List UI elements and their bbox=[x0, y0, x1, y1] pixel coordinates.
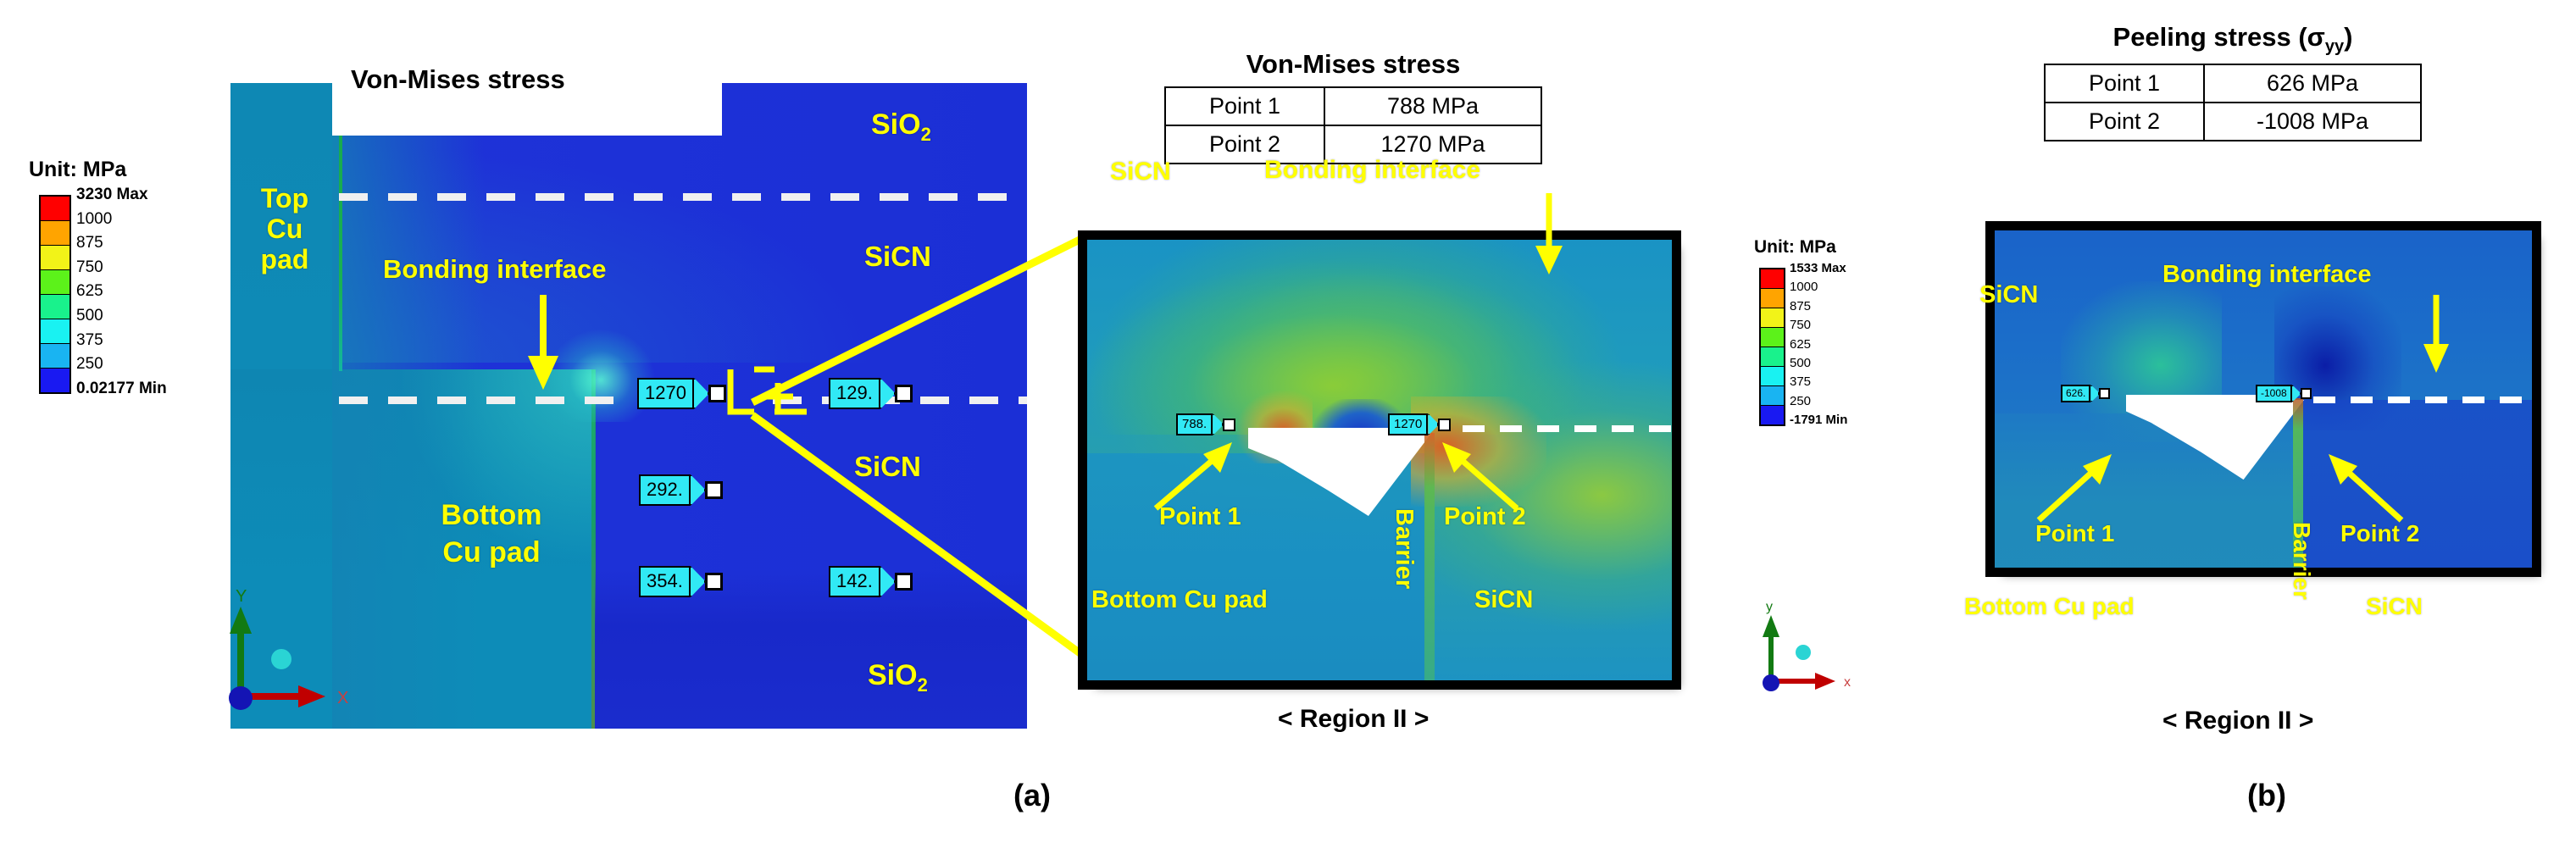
axis-triad-a-y-label: Y bbox=[236, 587, 247, 606]
label-bottom-cu-pad-a: Bottom Cu pad bbox=[407, 496, 576, 571]
probe-292-main-value: 292. bbox=[639, 474, 691, 506]
region-caption-a: < Region II > bbox=[1278, 705, 1429, 734]
label-top-cu-pad-line-2: pad bbox=[246, 244, 324, 274]
table-b-r0-value: 626 MPa bbox=[2204, 64, 2421, 103]
legend-a-tick-7: 250 bbox=[76, 352, 167, 377]
label-bottom-cu-pad-a-line-1: Cu pad bbox=[407, 534, 576, 571]
inset-a-label-bottom-cu-pad: Bottom Cu pad bbox=[1091, 586, 1268, 614]
legend-a-tick-8: 0.02177 Min bbox=[76, 377, 167, 402]
legend-b-tick-1: 1000 bbox=[1790, 278, 1847, 297]
legend-b-swatch-1 bbox=[1761, 289, 1784, 308]
probe-142-main-value: 142. bbox=[829, 566, 880, 597]
legend-b-tick-2: 875 bbox=[1790, 297, 1847, 316]
inset-a-probe-1270-value: 1270 bbox=[1388, 413, 1428, 435]
table-b-title-tail: ) bbox=[2344, 22, 2352, 52]
legend-b-tick-4: 625 bbox=[1790, 335, 1847, 354]
label-sio2-top-sub: 2 bbox=[921, 124, 931, 145]
inset-b-label-barrier: Barrier bbox=[2288, 522, 2315, 600]
legend-b-tick-6: 375 bbox=[1790, 373, 1847, 391]
probe-1270-main-anchor bbox=[708, 385, 726, 402]
inset-a-label-barrier: Barrier bbox=[1390, 508, 1418, 589]
probe-354-main-tip bbox=[691, 566, 706, 597]
legend-a-tick-1: 1000 bbox=[76, 208, 167, 232]
inset-a-bonding-arrow bbox=[1532, 193, 1566, 274]
probe-292-main-tip bbox=[691, 474, 706, 506]
legend-b-swatch-4 bbox=[1761, 347, 1784, 367]
bonding-interface-arrow-a bbox=[524, 295, 563, 390]
label-sio2-top: SiO2 bbox=[871, 108, 931, 146]
legend-a-tick-4: 625 bbox=[76, 280, 167, 304]
label-bonding-interface-a: Bonding interface bbox=[383, 254, 607, 285]
inset-b-probe-1008-value: -1008 bbox=[2256, 385, 2292, 402]
label-top-cu-pad-line-1: Cu bbox=[246, 213, 324, 244]
inset-b-label-bonding-interface: Bonding interface bbox=[2162, 261, 2372, 289]
inset-b-point2-arrow bbox=[2320, 449, 2408, 525]
table-row: Point 1 788 MPa bbox=[1165, 87, 1541, 125]
table-a-title: Von-Mises stress bbox=[1164, 49, 1542, 80]
label-sicn-upper: SiCN bbox=[864, 241, 931, 273]
inset-b-probe-626: 626. bbox=[2061, 385, 2110, 402]
legend-a-swatch-6 bbox=[41, 344, 69, 369]
inset-b-probe-1008: -1008 bbox=[2256, 385, 2312, 402]
table-b-r1-value: -1008 MPa bbox=[2204, 103, 2421, 141]
legend-a-tick-5: 500 bbox=[76, 304, 167, 329]
probe-1270-main-tip bbox=[694, 378, 709, 409]
dashed-interface-top bbox=[339, 193, 1027, 201]
axis-triad-a: Y X bbox=[222, 585, 366, 720]
table-b-r0-point: Point 1 bbox=[2045, 64, 2204, 103]
inset-b-point1-arrow bbox=[2034, 449, 2122, 525]
inset-b-probe-1008-anchor bbox=[2301, 388, 2312, 399]
legend-b-swatch-3 bbox=[1761, 328, 1784, 347]
inset-a-probe-788: 788. bbox=[1176, 413, 1235, 435]
table-b-title: Peeling stress (σyy) bbox=[2044, 22, 2422, 57]
legend-a-unit: Unit: MPa bbox=[29, 158, 126, 182]
probe-292-main: 292. bbox=[639, 474, 723, 506]
dashed-interface-main bbox=[339, 396, 627, 404]
legend-b-tick-7: 250 bbox=[1790, 392, 1847, 411]
legend-b-swatch-5 bbox=[1761, 367, 1784, 386]
legend-a-swatch-5 bbox=[41, 319, 69, 344]
axis-triad-b-y-label: y bbox=[1766, 600, 1773, 614]
legend-a-swatch-1 bbox=[41, 221, 69, 246]
inset-a-point2-arrow bbox=[1432, 437, 1525, 513]
legend-b-ticks: 1533 Max 1000 875 750 625 500 375 250 -1… bbox=[1790, 259, 1847, 430]
label-sio2-bottom-sub: 2 bbox=[918, 674, 928, 696]
legend-a-tick-6: 375 bbox=[76, 329, 167, 353]
panel-caption-b: (b) bbox=[2247, 778, 2286, 813]
label-top-cu-pad: Top Cu pad bbox=[246, 183, 324, 274]
inset-a-label-sicn-top: SiCN bbox=[1110, 158, 1171, 186]
table-b-r1-point: Point 2 bbox=[2045, 103, 2204, 141]
label-bottom-cu-pad-a-line-0: Bottom bbox=[407, 496, 576, 534]
label-sio2-bottom-text: SiO bbox=[868, 659, 918, 691]
inset-b-dashed-interface bbox=[2313, 396, 2532, 403]
label-sio2-top-text: SiO bbox=[871, 108, 921, 141]
plot-title-a: Von-Mises stress bbox=[339, 61, 577, 98]
axis-triad-b-x-label: x bbox=[1844, 675, 1851, 690]
inset-a-probe-788-tip bbox=[1213, 413, 1224, 435]
axis-triad-b: y x bbox=[1756, 598, 1866, 700]
table-b-title-main: Peeling stress (σ bbox=[2113, 22, 2325, 52]
legend-a-swatch-4 bbox=[41, 295, 69, 319]
region-caption-b: < Region II > bbox=[2162, 707, 2313, 735]
label-sio2-bottom: SiO2 bbox=[868, 659, 928, 696]
legend-a-tick-3: 750 bbox=[76, 256, 167, 280]
table-a-r0-point: Point 1 bbox=[1165, 87, 1324, 125]
probe-129-main-anchor bbox=[895, 385, 913, 402]
table-row: Point 2 -1008 MPa bbox=[2045, 103, 2421, 141]
inset-a-dashed-interface bbox=[1463, 425, 1674, 432]
legend-a-tick-2: 875 bbox=[76, 231, 167, 256]
legend-b-swatch-0 bbox=[1761, 269, 1784, 289]
legend-a-swatch-3 bbox=[41, 270, 69, 295]
legend-a-ticks: 3230 Max 1000 875 750 625 500 375 250 0.… bbox=[76, 183, 167, 401]
table-a: Point 1 788 MPa Point 2 1270 MPa bbox=[1164, 86, 1542, 164]
inset-a-probe-788-value: 788. bbox=[1176, 413, 1213, 435]
table-row: Point 1 626 MPa bbox=[2045, 64, 2421, 103]
legend-a-tick-0: 3230 Max bbox=[76, 183, 167, 208]
probe-129-main-value: 129. bbox=[829, 378, 880, 409]
inset-b-probe-626-value: 626. bbox=[2061, 385, 2090, 402]
inset-a-label-sicn-bottom: SiCN bbox=[1474, 586, 1533, 614]
probe-354-main-value: 354. bbox=[639, 566, 691, 597]
probe-292-main-anchor bbox=[705, 481, 723, 499]
legend-b-swatch-7 bbox=[1761, 406, 1784, 424]
inset-a-probe-788-anchor bbox=[1223, 419, 1235, 431]
probe-354-main-anchor bbox=[705, 573, 723, 591]
probe-142-main-tip bbox=[880, 566, 896, 597]
probe-142-main: 142. bbox=[829, 566, 913, 597]
inset-a-point1-arrow bbox=[1151, 437, 1244, 513]
legend-b-tick-8: -1791 Min bbox=[1790, 411, 1847, 430]
legend-b-tick-5: 500 bbox=[1790, 354, 1847, 373]
table-a-r0-value: 788 MPa bbox=[1324, 87, 1541, 125]
probe-354-main: 354. bbox=[639, 566, 723, 597]
legend-a-swatch-0 bbox=[41, 197, 69, 221]
legend-b-swatch-2 bbox=[1761, 308, 1784, 328]
legend-a-swatch-2 bbox=[41, 246, 69, 270]
probe-129-main: 129. bbox=[829, 378, 913, 409]
table-b-wrapper: Peeling stress (σyy) Point 1 626 MPa Poi… bbox=[2044, 22, 2422, 141]
probe-129-main-tip bbox=[880, 378, 896, 409]
axis-triad-a-x-label: X bbox=[337, 689, 348, 707]
label-sicn-lower: SiCN bbox=[854, 451, 921, 483]
probe-142-main-anchor bbox=[895, 573, 913, 591]
legend-b-colorbar bbox=[1759, 268, 1785, 426]
inset-leader-lines bbox=[729, 212, 1119, 686]
inset-a-probe-1270: 1270 bbox=[1388, 413, 1451, 435]
table-b: Point 1 626 MPa Point 2 -1008 MPa bbox=[2044, 64, 2422, 141]
probe-1270-main: 1270 bbox=[637, 378, 726, 409]
inset-b-label-bottom-cu-pad: Bottom Cu pad bbox=[1964, 593, 2135, 620]
table-a-wrapper: Von-Mises stress Point 1 788 MPa Point 2… bbox=[1164, 49, 1542, 164]
inset-a-label-bonding-interface: Bonding interface bbox=[1264, 156, 1480, 185]
legend-a-swatch-7 bbox=[41, 369, 69, 392]
probe-1270-main-value: 1270 bbox=[637, 378, 694, 409]
table-b-title-sub: yy bbox=[2325, 37, 2344, 56]
inset-a-probe-1270-tip bbox=[1428, 413, 1439, 435]
legend-b-tick-3: 750 bbox=[1790, 316, 1847, 335]
inset-b-label-sicn-bottom: SiCN bbox=[2366, 593, 2423, 620]
inset-b-bonding-arrow bbox=[2420, 295, 2452, 373]
inset-b-probe-626-anchor bbox=[2099, 388, 2110, 399]
inset-b-label-sicn-top: SiCN bbox=[1979, 281, 2038, 309]
legend-b-swatch-6 bbox=[1761, 386, 1784, 406]
legend-b-unit: Unit: MPa bbox=[1754, 237, 1836, 258]
panel-caption-a: (a) bbox=[1013, 778, 1051, 813]
legend-a-colorbar bbox=[39, 195, 71, 394]
legend-b-tick-0: 1533 Max bbox=[1790, 259, 1847, 278]
label-top-cu-pad-line-0: Top bbox=[246, 183, 324, 213]
inset-a-probe-1270-anchor bbox=[1438, 419, 1451, 431]
